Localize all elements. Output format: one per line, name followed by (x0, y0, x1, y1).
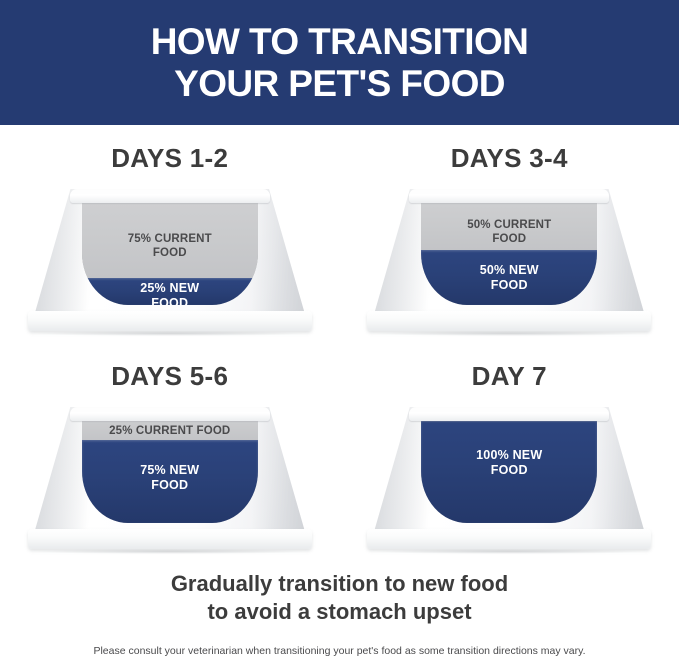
bowl-rim (70, 407, 270, 421)
footer: Gradually transition to new food to avoi… (0, 570, 679, 657)
infographic-page: HOW TO TRANSITION YOUR PET'S FOOD DAYS 1… (0, 0, 679, 661)
new-food-label-line-1: 25% NEW (82, 281, 258, 296)
bowl-cavity: 25% CURRENT FOOD 75% NEW FOOD (82, 413, 258, 523)
new-food-label-line-2: FOOD (421, 463, 597, 478)
food-bowl-graphic: 75% CURRENT FOOD 25% NEW FOOD (34, 183, 306, 335)
current-food-label-line-1: 75% CURRENT (82, 232, 258, 246)
step-card-day-7: DAY 7 100% NEW FOOD (340, 348, 679, 566)
current-food-label: 25% CURRENT FOOD (82, 424, 258, 438)
bowl-rim (409, 407, 609, 421)
bowl-base (28, 529, 312, 549)
food-bowl-graphic: 50% CURRENT FOOD 50% NEW FOOD (373, 183, 645, 335)
current-food-label-line-1: 50% CURRENT (421, 218, 597, 232)
new-food-label: 100% NEW FOOD (421, 448, 597, 479)
header-title-line-2: YOUR PET'S FOOD (174, 63, 505, 104)
header-title-line-1: HOW TO TRANSITION (151, 21, 529, 62)
current-food-label: 50% CURRENT FOOD (421, 218, 597, 246)
bowl-rim (70, 189, 270, 203)
new-food-label-line-2: FOOD (82, 478, 258, 493)
footer-disclaimer: Please consult your veterinarian when tr… (93, 645, 585, 657)
transition-steps-grid: DAYS 1-2 75% CURRENT FOOD 25% NEW FOOD (0, 130, 679, 565)
step-title: DAYS 3-4 (451, 143, 568, 174)
current-food-label: 75% CURRENT FOOD (82, 232, 258, 260)
bowl-cavity: 100% NEW FOOD (421, 413, 597, 523)
food-bowl-graphic: 100% NEW FOOD (373, 401, 645, 553)
current-food-label-line-2: FOOD (82, 246, 258, 260)
new-food-label: 25% NEW FOOD (82, 281, 258, 305)
step-card-days-1-2: DAYS 1-2 75% CURRENT FOOD 25% NEW FOOD (0, 130, 340, 348)
new-food-label-line-2: FOOD (421, 278, 597, 293)
step-title: DAY 7 (472, 361, 547, 392)
header-banner: HOW TO TRANSITION YOUR PET'S FOOD (0, 0, 679, 125)
footer-headline-line-2: to avoid a stomach upset (207, 598, 471, 626)
step-title: DAYS 1-2 (111, 143, 228, 174)
bowl-base (28, 311, 312, 331)
step-title: DAYS 5-6 (111, 361, 228, 392)
new-food-label: 75% NEW FOOD (82, 463, 258, 494)
step-card-days-3-4: DAYS 3-4 50% CURRENT FOOD 50% NEW FOOD (340, 130, 679, 348)
footer-headline-line-1: Gradually transition to new food (171, 570, 508, 598)
step-card-days-5-6: DAYS 5-6 25% CURRENT FOOD 75% NEW FOOD (0, 348, 340, 566)
new-food-label: 50% NEW FOOD (421, 263, 597, 294)
new-food-label-line-1: 75% NEW (82, 463, 258, 478)
bowl-cavity: 50% CURRENT FOOD 50% NEW FOOD (421, 195, 597, 305)
new-food-label-line-2: FOOD (82, 296, 258, 305)
current-food-label-line-1: 25% CURRENT FOOD (82, 424, 258, 438)
bowl-cavity: 75% CURRENT FOOD 25% NEW FOOD (82, 195, 258, 305)
bowl-base (367, 311, 651, 331)
bowl-base (367, 529, 651, 549)
current-food-label-line-2: FOOD (421, 232, 597, 246)
food-bowl-graphic: 25% CURRENT FOOD 75% NEW FOOD (34, 401, 306, 553)
bowl-rim (409, 189, 609, 203)
new-food-label-line-1: 100% NEW (421, 448, 597, 463)
new-food-label-line-1: 50% NEW (421, 263, 597, 278)
